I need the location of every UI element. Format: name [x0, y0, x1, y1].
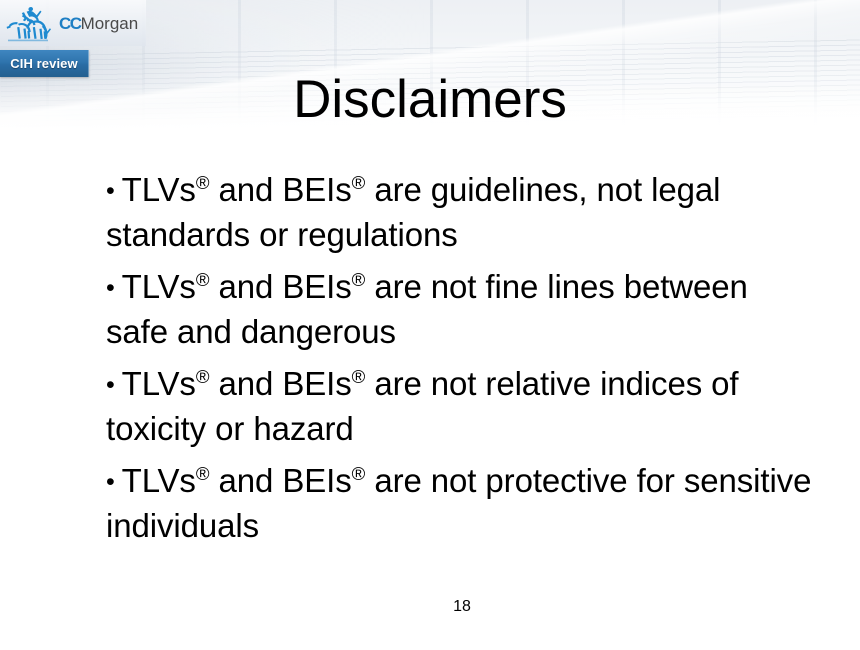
slide-title: Disclaimers	[0, 69, 860, 131]
bullet-glyph-icon: •	[106, 371, 122, 399]
registered-trademark-icon: ®	[352, 172, 366, 193]
bullet-item: •TLVs® and BEIs® are guidelines, not leg…	[106, 168, 816, 257]
registered-trademark-icon: ®	[352, 463, 366, 484]
bullet-glyph-icon: •	[106, 177, 122, 205]
bullet-text: TLVs® and BEIs® are not protective for s…	[106, 462, 811, 544]
bullet-item: •TLVs® and BEIs® are not fine lines betw…	[106, 265, 816, 354]
bullet-text: TLVs® and BEIs® are not relative indices…	[106, 365, 739, 447]
brand-wordmark: CCMorgan	[59, 15, 138, 32]
bullet-list: •TLVs® and BEIs® are guidelines, not leg…	[106, 168, 816, 556]
bullet-text: TLVs® and BEIs® are not fine lines betwe…	[106, 268, 748, 350]
bullet-glyph-icon: •	[106, 274, 122, 302]
ccmorgan-equestrian-logo-icon	[2, 1, 58, 45]
registered-trademark-icon: ®	[196, 172, 210, 193]
registered-trademark-icon: ®	[196, 463, 210, 484]
page-number: 18	[0, 597, 860, 617]
registered-trademark-icon: ®	[196, 269, 210, 290]
registered-trademark-icon: ®	[196, 366, 210, 387]
wordmark-name: Morgan	[81, 14, 139, 33]
wordmark-prefix: CC	[59, 14, 81, 33]
presentation-slide: CCMorgan CIH review Disclaimers •TLVs® a…	[0, 0, 860, 650]
registered-trademark-icon: ®	[352, 366, 366, 387]
bullet-item: •TLVs® and BEIs® are not relative indice…	[106, 362, 816, 451]
bullet-text: TLVs® and BEIs® are guidelines, not lega…	[106, 171, 720, 253]
bullet-glyph-icon: •	[106, 468, 122, 496]
bullet-item: •TLVs® and BEIs® are not protective for …	[106, 459, 816, 548]
registered-trademark-icon: ®	[352, 269, 366, 290]
brand-logo: CCMorgan	[0, 0, 146, 46]
